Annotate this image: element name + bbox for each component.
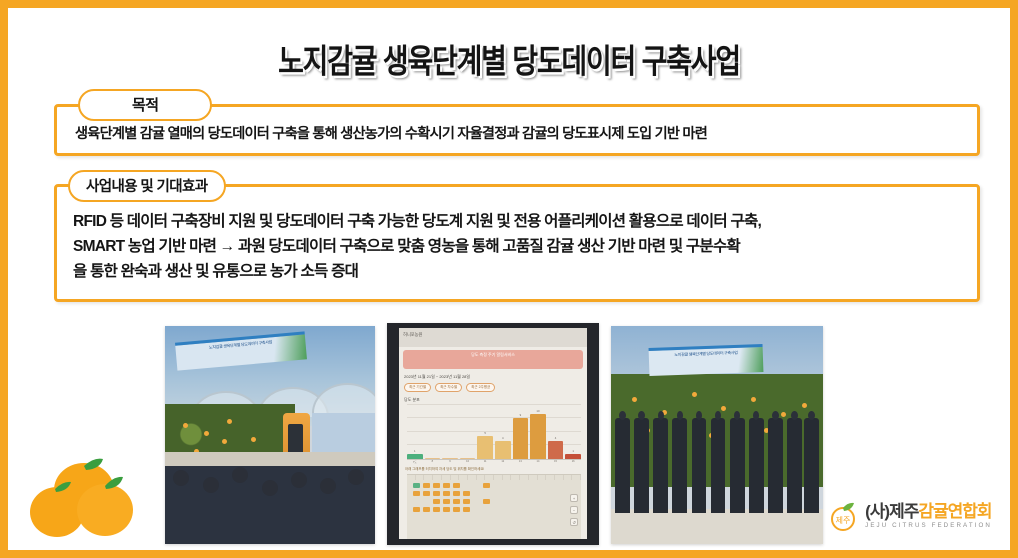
app-grid-cell[interactable] xyxy=(443,499,450,504)
app-filter-chip[interactable]: 최근 차수별 xyxy=(435,383,462,392)
photo-group-commemorative: 노지감귤 생육단계별 당도데이터 구축사업 xyxy=(611,326,823,544)
section-details-tab-label: 사업내용 및 기대효과 xyxy=(68,170,226,202)
photo-field-visit: 노지감귤 생육단계별 당도데이터 구축사업 xyxy=(165,326,375,544)
app-chart-bar[interactable]: 9 xyxy=(513,418,529,458)
app-grid-cell-empty xyxy=(483,491,490,496)
app-grid-row xyxy=(413,499,581,504)
logo-name: (사)제주감귤연합회 xyxy=(865,503,992,520)
photo-app-screenshot: 허니포농원 당도 측정 주기 알림서비스 2023년 11월 21일 ~ 202… xyxy=(387,323,599,545)
app-grid-cell[interactable] xyxy=(453,491,460,496)
app-grid-cell[interactable] xyxy=(433,491,440,496)
app-grid-cell[interactable] xyxy=(443,491,450,496)
page-title: 노지감귤 생육단계별 당도데이터 구축사업 xyxy=(278,36,740,83)
app-grid-cell[interactable] xyxy=(463,491,470,496)
app-grid-row xyxy=(413,491,581,496)
app-brix-bar-chart: 15491041 xyxy=(407,405,581,460)
app-chart-bar[interactable]: 4 xyxy=(548,441,564,459)
logo-text-block: (사)제주감귤연합회 JEJU CITRUS FEDERATION xyxy=(865,503,992,529)
app-grid-cell[interactable] xyxy=(453,507,460,512)
app-grid-cell[interactable] xyxy=(413,483,420,488)
app-header: 허니포농원 xyxy=(399,328,587,347)
photo1-crowd xyxy=(165,466,375,544)
zoom-out-icon[interactable]: − xyxy=(570,506,578,514)
app-grid-cell-rows xyxy=(407,480,581,512)
svg-text:제주: 제주 xyxy=(836,516,851,525)
app-chart-tick-label: 16 xyxy=(565,460,581,464)
app-chart-bar-value: 1 xyxy=(565,449,581,453)
app-grid-cell-empty xyxy=(413,499,420,504)
photo2-device-bezel: 허니포농원 당도 측정 주기 알림서비스 2023년 11월 21일 ~ 202… xyxy=(387,323,599,545)
zoom-in-icon[interactable]: + xyxy=(570,494,578,502)
app-grid-cell[interactable] xyxy=(463,507,470,512)
app-grid-cell[interactable] xyxy=(453,483,460,488)
app-filter-chip[interactable]: 최근 2주평균 xyxy=(466,383,495,392)
app-grid-cell[interactable] xyxy=(423,507,430,512)
title-container: 노지감귤 생육단계별 당도데이터 구축사업 xyxy=(8,36,1010,76)
app-chart-title: 당도 분포 xyxy=(399,394,587,404)
photo2-app-screen: 허니포농원 당도 측정 주기 알림서비스 2023년 11월 21일 ~ 202… xyxy=(399,328,587,539)
app-grid-cell-empty xyxy=(473,491,480,496)
app-chart-note: 아래 그래프를 터치하여 자세 당도 및 위치를 확인하세요! xyxy=(399,464,587,474)
app-chart-tick-label: 13 xyxy=(513,460,529,464)
app-chart-bar[interactable]: 1 xyxy=(407,454,423,458)
app-grid-cell-empty xyxy=(473,483,480,488)
app-grid-cell-empty xyxy=(473,499,480,504)
logo-name-prefix: (사)제주 xyxy=(865,502,918,521)
app-chart-tick-label: 7도 xyxy=(407,460,423,464)
app-grid-cell[interactable] xyxy=(433,499,440,504)
app-chart-tick-label: 12 xyxy=(495,460,511,464)
app-filter-chips: 최근 기간별 최근 차수별 최근 2주평균 xyxy=(399,381,587,394)
app-map-tools: + − ↺ xyxy=(570,494,578,526)
tangerine-logo-icon: 제주 xyxy=(828,501,858,531)
app-grid-cell[interactable] xyxy=(413,491,420,496)
app-chart-bar-value: 1 xyxy=(407,449,423,453)
reset-icon[interactable]: ↺ xyxy=(570,518,578,526)
slide-canvas: 노지감귤 생육단계별 당도데이터 구축사업 생육단계별 감귤 열매의 당도데이터… xyxy=(0,0,1018,558)
app-grid-cell[interactable] xyxy=(423,483,430,488)
app-grid-cell-empty xyxy=(463,483,470,488)
logo-subtitle: JEJU CITRUS FEDERATION xyxy=(865,523,992,529)
app-grid-cell[interactable] xyxy=(413,507,420,512)
app-chart-tick-label: 8 xyxy=(425,460,441,464)
app-grid-cell[interactable] xyxy=(433,483,440,488)
app-filter-chip[interactable]: 최근 기간별 xyxy=(404,383,431,392)
app-grid-cell-empty xyxy=(473,507,480,512)
app-grid-cell[interactable] xyxy=(463,499,470,504)
app-grid-cell-empty xyxy=(423,499,430,504)
app-grid-row xyxy=(413,483,581,488)
logo-name-highlight: 감귤연합회 xyxy=(918,502,991,521)
app-grid-cell[interactable] xyxy=(443,483,450,488)
app-chart-bar[interactable]: 1 xyxy=(565,454,581,458)
app-grid-cell[interactable] xyxy=(483,483,490,488)
app-chart-bar[interactable]: 4 xyxy=(495,441,511,459)
app-chart-bar-value: 10 xyxy=(530,409,546,413)
photo3-people-row xyxy=(611,418,823,514)
app-chart-bar[interactable]: 5 xyxy=(477,436,493,458)
section-details: RFID 등 데이터 구축장비 지원 및 당도데이터 구축 가능한 당도계 지원… xyxy=(54,184,980,302)
app-title: 허니포농원 xyxy=(399,328,587,338)
organization-logo: 제주 (사)제주감귤연합회 JEJU CITRUS FEDERATION xyxy=(828,494,992,538)
section-details-line-1: RFID 등 데이터 구축장비 지원 및 당도데이터 구축 가능한 당도계 지원… xyxy=(73,209,961,234)
app-chart-tick-label: 9 xyxy=(442,460,458,464)
app-orchard-grid-map: + − ↺ 최근 측정을 완료하여 전체 평균 당도를 확인할 수 있습니다. xyxy=(407,474,581,539)
app-chart-bar-value: 5 xyxy=(477,431,493,435)
section-details-line-2: SMART 농업 기반 마련 → 과원 당도데이터 구축으로 맞춤 영농을 통해… xyxy=(73,234,961,259)
app-grid-cell-empty xyxy=(483,507,490,512)
section-purpose: 생육단계별 감귤 열매의 당도데이터 구축을 통해 생산농가의 수확시기 자율결… xyxy=(54,104,980,156)
section-purpose-tab-label: 목적 xyxy=(78,89,212,121)
app-chart-bar-value: 4 xyxy=(495,436,511,440)
app-grid-cell[interactable] xyxy=(433,507,440,512)
section-details-line-3: 을 통한 완숙과 생산 및 유통으로 농가 소득 증대 xyxy=(73,259,961,284)
app-alert-banner: 당도 측정 주기 알림서비스 xyxy=(403,350,583,369)
app-chart-tick-label: 14 xyxy=(530,460,546,464)
app-grid-cell[interactable] xyxy=(483,499,490,504)
app-chart-tick-label: 15 xyxy=(548,460,564,464)
photo3-ground xyxy=(611,509,823,544)
app-grid-cell[interactable] xyxy=(423,491,430,496)
app-brix-axis-labels: 7도8910111213141516 xyxy=(407,460,581,464)
app-date-range: 2023년 11월 21일 ~ 2023년 11월 28일 xyxy=(399,372,587,381)
app-chart-bar-value: 9 xyxy=(513,413,529,417)
app-grid-cell[interactable] xyxy=(443,507,450,512)
app-chart-tick-label: 11 xyxy=(477,460,493,464)
section-purpose-text: 생육단계별 감귤 열매의 당도데이터 구축을 통해 생산농가의 수확시기 자율결… xyxy=(75,123,963,145)
app-chart-bar-value: 4 xyxy=(548,436,564,440)
app-chart-tick-label: 10 xyxy=(460,460,476,464)
app-grid-cell[interactable] xyxy=(453,499,460,504)
app-chart-bar[interactable]: 10 xyxy=(530,414,546,459)
photo3-banner: 노지감귤 생육단계별 당도데이터 구축사업 xyxy=(649,344,764,376)
tangerine-decoration-icon xyxy=(22,454,142,540)
app-grid-row xyxy=(413,507,581,512)
